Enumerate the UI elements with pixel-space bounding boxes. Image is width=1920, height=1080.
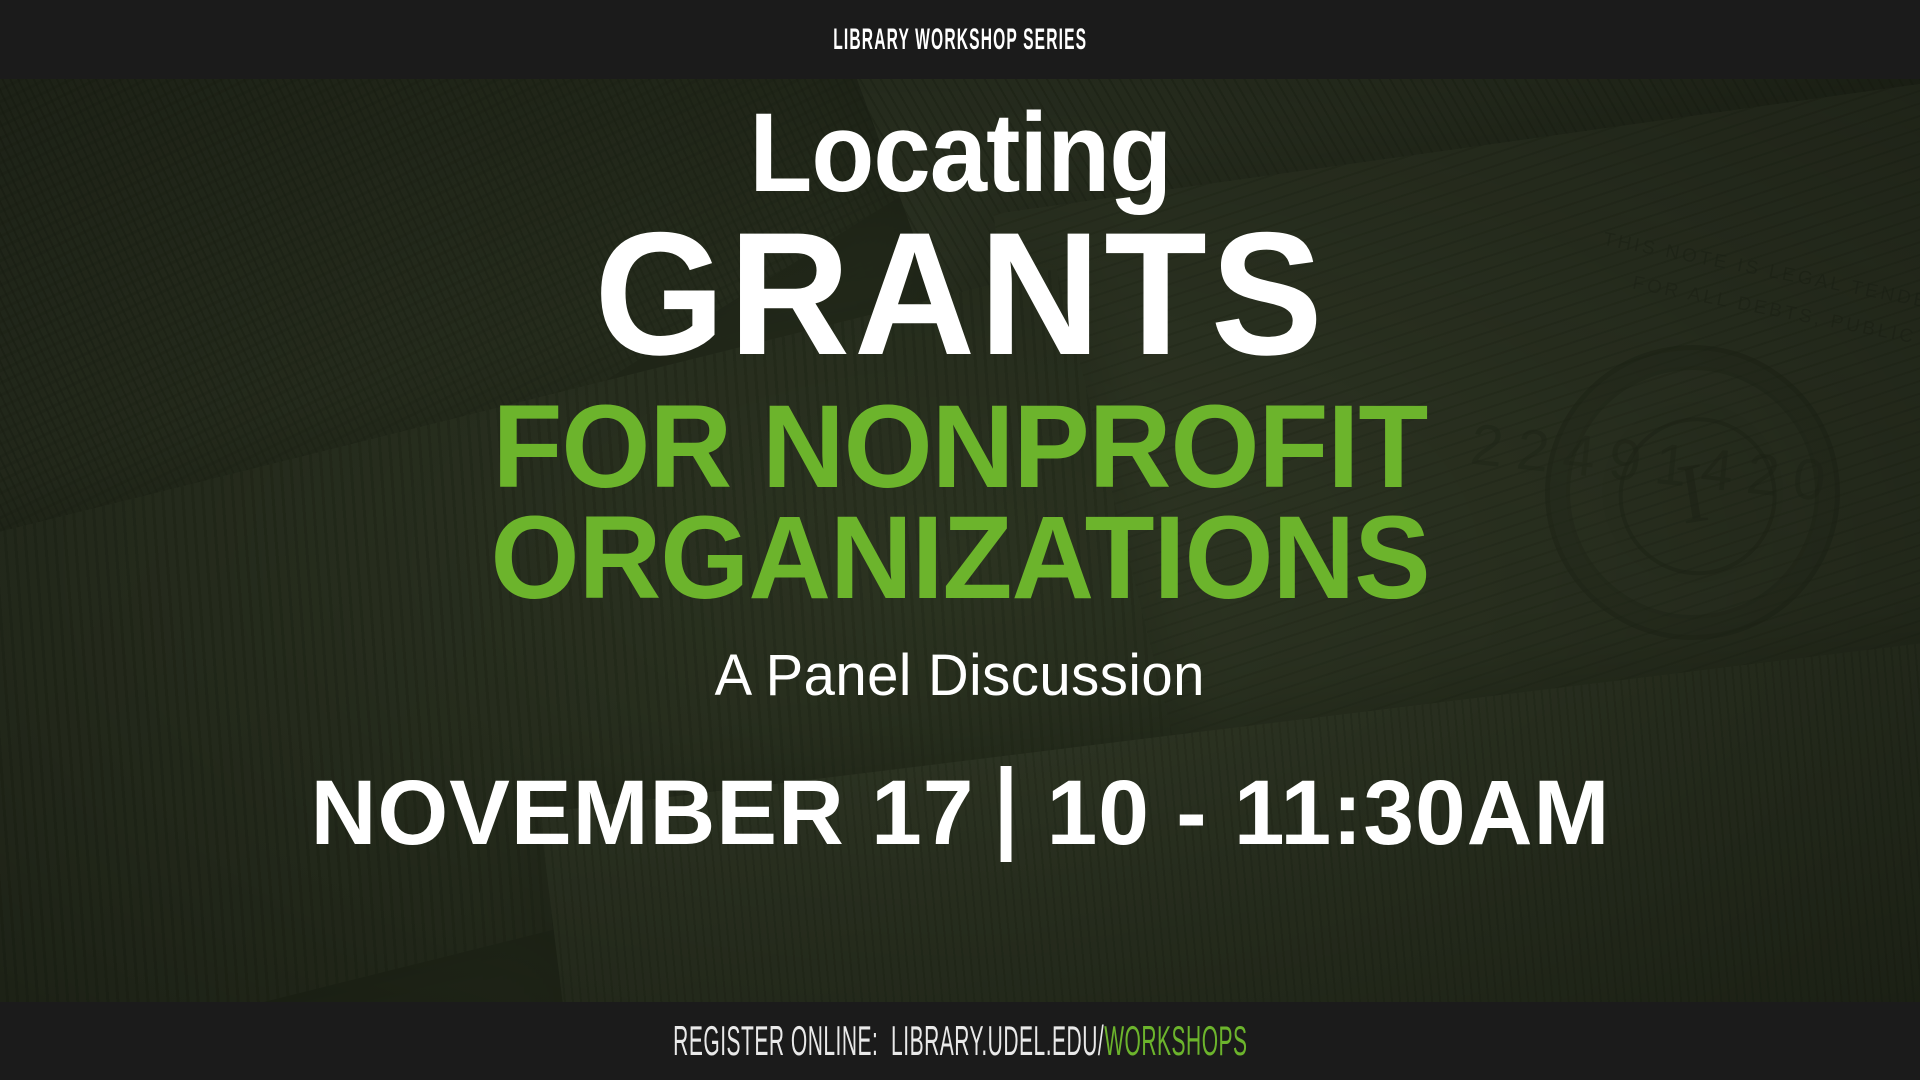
workshop-promo-poster: THIS NOTE IS LEGAL TENDER FOR ALL DEBTS,…	[0, 0, 1920, 1080]
event-date: NOVEMBER 17	[310, 761, 974, 866]
event-datetime-line: NOVEMBER 17 10 - 11:30AM	[310, 761, 1610, 866]
poster-main-content: Locating GRANTS FOR NONPROFIT ORGANIZATI…	[0, 79, 1920, 1002]
register-online-label: REGISTER ONLINE:	[673, 1017, 878, 1064]
top-banner-bar: LIBRARY WORKSHOP SERIES	[0, 0, 1920, 79]
headline-line-grants: GRANTS	[594, 211, 1326, 379]
series-eyebrow-label: LIBRARY WORKSHOP SERIES	[833, 23, 1087, 57]
date-time-separator-icon	[1000, 766, 1011, 862]
bottom-registration-bar: REGISTER ONLINE: LIBRARY.UDEL.EDU/WORKSH…	[0, 1002, 1920, 1080]
headline-line-organizations: ORGANIZATIONS	[490, 504, 1429, 613]
event-time: 10 - 11:30AM	[1046, 761, 1610, 866]
subtitle-panel-discussion: A Panel Discussion	[715, 642, 1205, 709]
headline-line-for-nonprofit: FOR NONPROFIT	[493, 393, 1428, 502]
headline-line-locating: Locating	[749, 97, 1171, 209]
registration-url-base: LIBRARY.UDEL.EDU/	[891, 1017, 1104, 1064]
registration-url-path[interactable]: WORKSHOPS	[1104, 1017, 1247, 1064]
registration-info: REGISTER ONLINE: LIBRARY.UDEL.EDU/WORKSH…	[673, 1017, 1247, 1065]
